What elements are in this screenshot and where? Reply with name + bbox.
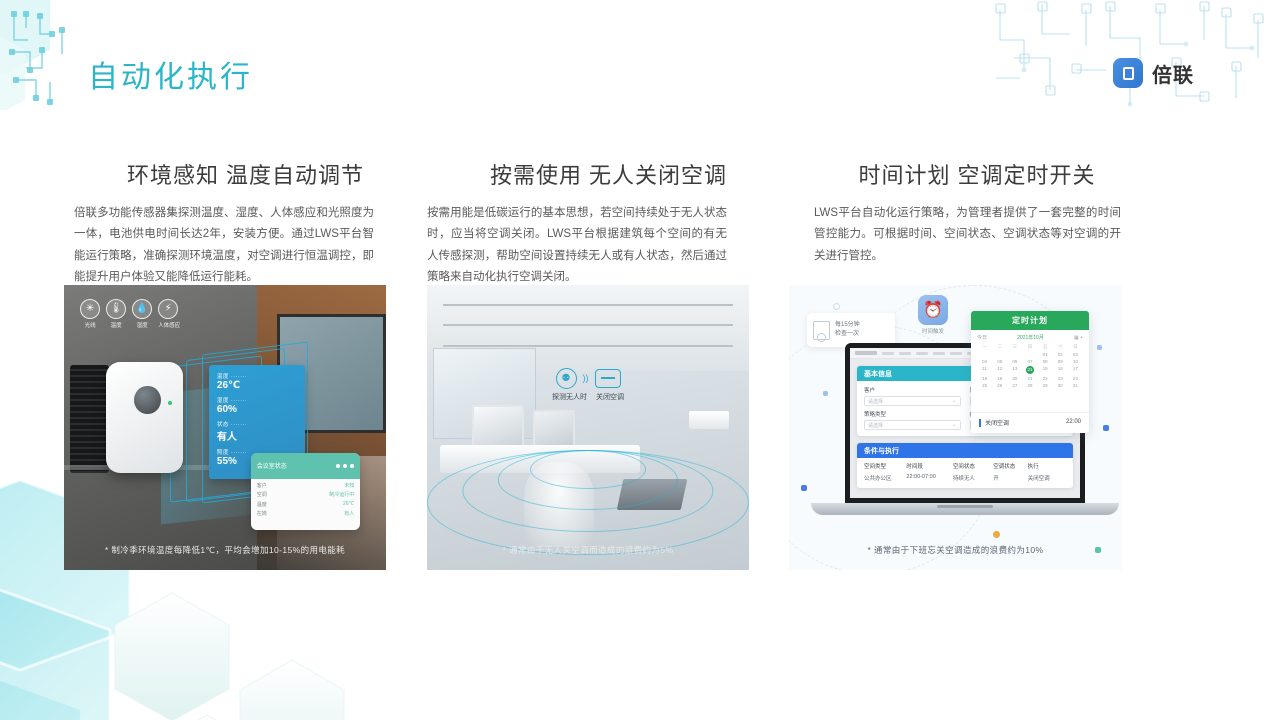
select-value: 请选择 bbox=[868, 398, 883, 405]
condition-table: 空间类型 时间段 空间状态 空调状态 执行 公共办公区 22:00-07:00 … bbox=[857, 458, 1073, 488]
brand-logo: 倍联 bbox=[1113, 58, 1194, 88]
air-conditioner-icon bbox=[595, 369, 621, 388]
feature-column-3: 时间计划 空调定时开关 LWS平台自动化运行策略，为管理者提供了一套完整的时间管… bbox=[792, 160, 1162, 288]
image-caption-1: * 制冷季环境温度每降低1℃，平均会增加10-15%的用电能耗 bbox=[64, 544, 386, 556]
status-row-value: 制冷运行中 bbox=[329, 491, 354, 498]
overlay-label-action: 关闭空调 bbox=[596, 392, 624, 402]
calendar-day[interactable]: 20 bbox=[1007, 376, 1022, 381]
sensor-icon-label: 温度 bbox=[106, 321, 126, 329]
calendar-day[interactable]: 03 bbox=[1068, 352, 1083, 357]
condition-execution-title: 条件与执行 bbox=[857, 443, 1073, 458]
calendar-day[interactable]: 09 bbox=[1053, 359, 1068, 364]
feature-heading-1: 环境感知 温度自动调节 bbox=[64, 160, 427, 192]
calendar-day[interactable]: 17 bbox=[1068, 366, 1083, 374]
calendar-day[interactable]: 27 bbox=[1007, 383, 1022, 388]
check-interval-line2: 检查一次 bbox=[835, 331, 859, 337]
alarm-clock-icon: ⏰ bbox=[918, 295, 948, 325]
decorative-dot bbox=[1103, 425, 1109, 431]
reading-occupancy: 状态 ······· 有人 bbox=[217, 420, 298, 443]
reading-value: 26℃ bbox=[217, 380, 298, 391]
schedule-calendar: 今日 2021年10月 ▦ + 一 二 三 四 五 六 日 01 02 03 0… bbox=[971, 330, 1089, 388]
sensor-icon-label: 湿度 bbox=[132, 321, 152, 329]
calendar-month-label[interactable]: 2021年10月 bbox=[1017, 334, 1044, 341]
feature-image-3: 每15分钟 检查一次 ⏰ 时间触发 基本信息 客户 请选择 ⌄ bbox=[789, 285, 1122, 570]
office-monitor bbox=[472, 405, 524, 448]
motion-sensor-icon: ⚡ bbox=[158, 299, 178, 319]
calendar-day[interactable]: 18 bbox=[977, 376, 992, 381]
circuit-pattern-top-left bbox=[6, 10, 86, 115]
condition-execution-card: 条件与执行 空间类型 时间段 空间状态 空调状态 执行 公共办公区 22:00-… bbox=[857, 443, 1073, 488]
decorative-dot bbox=[801, 485, 807, 491]
weekday-label: 四 bbox=[1022, 344, 1037, 350]
select-value: 请选择 bbox=[868, 422, 883, 429]
chevron-down-icon: ⌄ bbox=[952, 422, 956, 428]
check-interval-chip: 每15分钟 检查一次 bbox=[807, 313, 895, 347]
check-interval-text: 每15分钟 检查一次 bbox=[835, 321, 860, 338]
weekday-label: 六 bbox=[1053, 344, 1068, 350]
calendar-day[interactable] bbox=[1022, 352, 1037, 357]
time-trigger-badge: ⏰ 时间触发 bbox=[911, 295, 955, 335]
table-row: 公共办公区 22:00-07:00 持续无人 开 关闭空调 bbox=[864, 474, 1066, 482]
status-card-title: 会议室状态 bbox=[257, 461, 287, 470]
feature-heading-2: 按需使用 无人关闭空调 bbox=[427, 160, 790, 192]
page-title: 自动化执行 bbox=[88, 52, 253, 96]
status-card-header: 会议室状态 bbox=[251, 453, 360, 478]
sensor-icon-label: 人体感应 bbox=[158, 321, 180, 329]
calendar-day[interactable]: 04 bbox=[977, 359, 992, 364]
status-row-label: 温度 bbox=[257, 501, 267, 508]
table-header-row: 空间类型 时间段 空间状态 空调状态 执行 bbox=[864, 462, 1066, 470]
column-header: 空间状态 bbox=[953, 462, 993, 470]
weekday-label: 三 bbox=[1007, 344, 1022, 350]
schedule-event-row[interactable]: 关闭空调 22:00 bbox=[971, 412, 1089, 427]
calendar-day[interactable]: 06 bbox=[1007, 359, 1022, 364]
column-header: 执行 bbox=[1028, 462, 1066, 470]
light-icon: ✳ bbox=[80, 299, 100, 319]
calendar-day[interactable]: 12 bbox=[992, 366, 1007, 374]
calendar-grid: 一 二 三 四 五 六 日 01 02 03 04 05 06 07 08 09 bbox=[977, 344, 1083, 388]
weekday-label: 一 bbox=[977, 344, 992, 350]
field-strategy-type: 策略类型 请选择 ⌄ bbox=[864, 410, 961, 430]
status-row: 客户 未知 bbox=[257, 482, 354, 489]
field-customer: 客户 请选择 ⌄ bbox=[864, 386, 961, 406]
feature-column-2: 按需使用 无人关闭空调 按需用能是低碳运行的基本思想，若空间持续处于无人状态时，… bbox=[427, 160, 790, 288]
cell-action: 关闭空调 bbox=[1028, 474, 1066, 482]
cell-time-range: 22:00-07:00 bbox=[906, 474, 952, 482]
event-marker-icon bbox=[979, 419, 981, 427]
calendar-day[interactable]: 22 bbox=[1038, 376, 1053, 381]
status-row-value: 有人 bbox=[344, 510, 354, 517]
weekday-label: 二 bbox=[992, 344, 1007, 350]
decorative-dot bbox=[833, 303, 840, 310]
sensor-icon-temperature: 🌡 温度 bbox=[106, 299, 126, 329]
air-conditioner-unit bbox=[688, 410, 730, 430]
schedule-event-time: 22:00 bbox=[1066, 419, 1081, 425]
calendar-day[interactable]: 02 bbox=[1053, 352, 1068, 357]
detection-overlay-labels: 探测无人时 关闭空调 bbox=[552, 392, 624, 402]
checklist-search-icon bbox=[813, 321, 830, 340]
status-row: 温度 26℃ bbox=[257, 501, 354, 508]
calendar-day[interactable]: 08 bbox=[1038, 359, 1053, 364]
column-header: 空调状态 bbox=[993, 462, 1027, 470]
calendar-day[interactable]: 28 bbox=[1022, 383, 1037, 388]
cell-ac-status: 开 bbox=[993, 474, 1027, 482]
calendar-day[interactable]: 10 bbox=[1068, 359, 1083, 364]
calendar-day[interactable] bbox=[977, 352, 992, 357]
calendar-toolbar: 今日 2021年10月 ▦ + bbox=[977, 334, 1083, 341]
time-trigger-label: 时间触发 bbox=[911, 327, 955, 335]
column-header: 时间段 bbox=[906, 462, 952, 470]
feature-columns: 环境感知 温度自动调节 倍联多功能传感器集探测温度、湿度、人体感应和光照度为一体… bbox=[0, 160, 1280, 288]
thermometer-icon: 🌡 bbox=[106, 299, 126, 319]
decorative-dot bbox=[1097, 345, 1102, 350]
weekday-label: 五 bbox=[1038, 344, 1053, 350]
calendar-day[interactable]: 05 bbox=[992, 359, 1007, 364]
occupancy-sensor-icon: ⚉ bbox=[556, 368, 577, 389]
calendar-view-icon[interactable]: ▦ + bbox=[1074, 335, 1083, 341]
droplet-icon: 💧 bbox=[132, 299, 152, 319]
check-interval-line1: 每15分钟 bbox=[835, 322, 860, 328]
feature-body-1: 倍联多功能传感器集探测温度、湿度、人体感应和光照度为一体，电池供电时间长达2年，… bbox=[74, 203, 374, 288]
field-label: 策略类型 bbox=[864, 410, 961, 418]
dashboard-logo bbox=[855, 351, 877, 355]
weekday-label: 日 bbox=[1068, 344, 1083, 350]
status-row-label: 空调 bbox=[257, 491, 267, 498]
schedule-panel: 定时计划 今日 2021年10月 ▦ + 一 二 三 四 五 六 日 01 02 bbox=[971, 311, 1089, 433]
calendar-day[interactable]: 23 bbox=[1053, 376, 1068, 381]
calendar-day[interactable]: 19 bbox=[992, 376, 1007, 381]
customer-select[interactable]: 请选择 ⌄ bbox=[864, 396, 961, 406]
calendar-day[interactable]: 21 bbox=[1022, 376, 1037, 381]
calendar-day-selected[interactable]: 21 bbox=[1026, 366, 1034, 374]
status-card-rows: 客户 未知 空调 制冷运行中 温度 26℃ 在岗 有人 bbox=[251, 479, 360, 523]
schedule-event-label: 关闭空调 bbox=[985, 421, 1009, 427]
meeting-room-status-card: 会议室状态 客户 未知 空调 制冷运行中 温度 26℃ 在岗 有人 bbox=[251, 453, 360, 530]
reading-label: 温度 ······· bbox=[217, 372, 298, 380]
sensor-lens-icon bbox=[134, 386, 160, 414]
calendar-day[interactable]: 13 bbox=[1007, 366, 1022, 374]
status-row-label: 客户 bbox=[257, 482, 267, 489]
calendar-day[interactable]: 16 bbox=[1053, 366, 1068, 374]
strategy-type-select[interactable]: 请选择 ⌄ bbox=[864, 420, 961, 430]
calendar-today-button[interactable]: 今日 bbox=[977, 334, 987, 341]
reading-label: 湿度 ······· bbox=[217, 396, 298, 404]
calendar-day[interactable] bbox=[992, 352, 1007, 357]
reading-humidity: 湿度 ······· 60% bbox=[217, 396, 298, 415]
feature-image-1: ✳ 光线 🌡 温度 💧 湿度 ⚡ 人体感应 温度 ······· 26℃ 湿度 … bbox=[64, 285, 386, 570]
calendar-day[interactable]: 11 bbox=[977, 366, 992, 374]
cell-space-status: 持续无人 bbox=[953, 474, 993, 482]
status-row-value: 26℃ bbox=[343, 501, 354, 508]
window-controls-icon bbox=[336, 464, 355, 469]
status-row: 空调 制冷运行中 bbox=[257, 491, 354, 498]
status-row: 在岗 有人 bbox=[257, 510, 354, 517]
feature-body-3: LWS平台自动化运行策略，为管理者提供了一套完整的时间管控能力。可根据时间、空间… bbox=[814, 203, 1121, 267]
status-row-value: 未知 bbox=[344, 482, 354, 489]
detection-overlay: ⚉ )) 探测无人时 关闭空调 bbox=[552, 368, 624, 402]
image-caption-2: * 通常由于无人关空调而造成的浪费约为5% bbox=[427, 544, 749, 556]
cell-space-type: 公共办公区 bbox=[864, 474, 906, 482]
calendar-day[interactable]: 24 bbox=[1068, 376, 1083, 381]
feature-heading-3: 时间计划 空调定时开关 bbox=[792, 160, 1162, 192]
feature-image-2: ⚉ )) 探测无人时 关闭空调 * 通常由于无人关空调而造成的浪费约为5% bbox=[427, 285, 749, 570]
signal-icon: )) bbox=[583, 373, 589, 383]
calendar-day[interactable]: 31 bbox=[1068, 383, 1083, 388]
feature-body-2: 按需用能是低碳运行的基本思想，若空间持续处于无人状态时，应当将空调关闭。LWS平… bbox=[427, 203, 727, 288]
brand-name: 倍联 bbox=[1152, 59, 1194, 88]
decorative-dot bbox=[993, 531, 1000, 538]
schedule-panel-title: 定时计划 bbox=[971, 311, 1089, 330]
field-label: 客户 bbox=[864, 386, 961, 394]
laptop-base bbox=[811, 503, 1119, 515]
sensor-icon-light: ✳ 光线 bbox=[80, 299, 100, 329]
calendar-day[interactable]: 01 bbox=[1038, 352, 1053, 357]
feature-column-1: 环境感知 温度自动调节 倍联多功能传感器集探测温度、湿度、人体感应和光照度为一体… bbox=[64, 160, 427, 288]
chevron-down-icon: ⌄ bbox=[952, 398, 956, 404]
calendar-day[interactable]: 30 bbox=[1053, 383, 1068, 388]
decorative-dot bbox=[823, 391, 828, 396]
calendar-day[interactable]: 25 bbox=[977, 383, 992, 388]
square-logo-icon bbox=[1113, 58, 1143, 88]
calendar-day[interactable]: 29 bbox=[1038, 383, 1053, 388]
reading-value: 有人 bbox=[217, 428, 298, 443]
calendar-day[interactable]: 15 bbox=[1038, 366, 1053, 374]
sensor-led-icon bbox=[168, 401, 172, 405]
sensor-icon-label: 光线 bbox=[80, 321, 100, 329]
sensor-icon-occupancy: ⚡ 人体感应 bbox=[158, 299, 180, 329]
sensor-icon-humidity: 💧 湿度 bbox=[132, 299, 152, 329]
sensor-capability-icons: ✳ 光线 🌡 温度 💧 湿度 ⚡ 人体感应 bbox=[80, 299, 180, 329]
status-row-label: 在岗 bbox=[257, 510, 267, 517]
reading-label: 状态 ······· bbox=[217, 420, 298, 428]
detection-overlay-icons: ⚉ )) bbox=[552, 368, 624, 389]
reading-temperature: 温度 ······· 26℃ bbox=[217, 372, 298, 391]
image-caption-3: * 通常由于下班忘关空调造成的浪费约为10% bbox=[789, 544, 1122, 556]
wall-vent bbox=[70, 365, 109, 473]
overlay-label-detect: 探测无人时 bbox=[552, 392, 587, 402]
reading-value: 60% bbox=[217, 404, 298, 415]
multifunction-sensor-device bbox=[106, 362, 183, 473]
calendar-day[interactable] bbox=[1007, 352, 1022, 357]
calendar-day[interactable]: 07 bbox=[1022, 359, 1037, 364]
column-header: 空间类型 bbox=[864, 462, 906, 470]
office-monitor-secondary bbox=[533, 410, 575, 447]
calendar-day[interactable]: 26 bbox=[992, 383, 1007, 388]
